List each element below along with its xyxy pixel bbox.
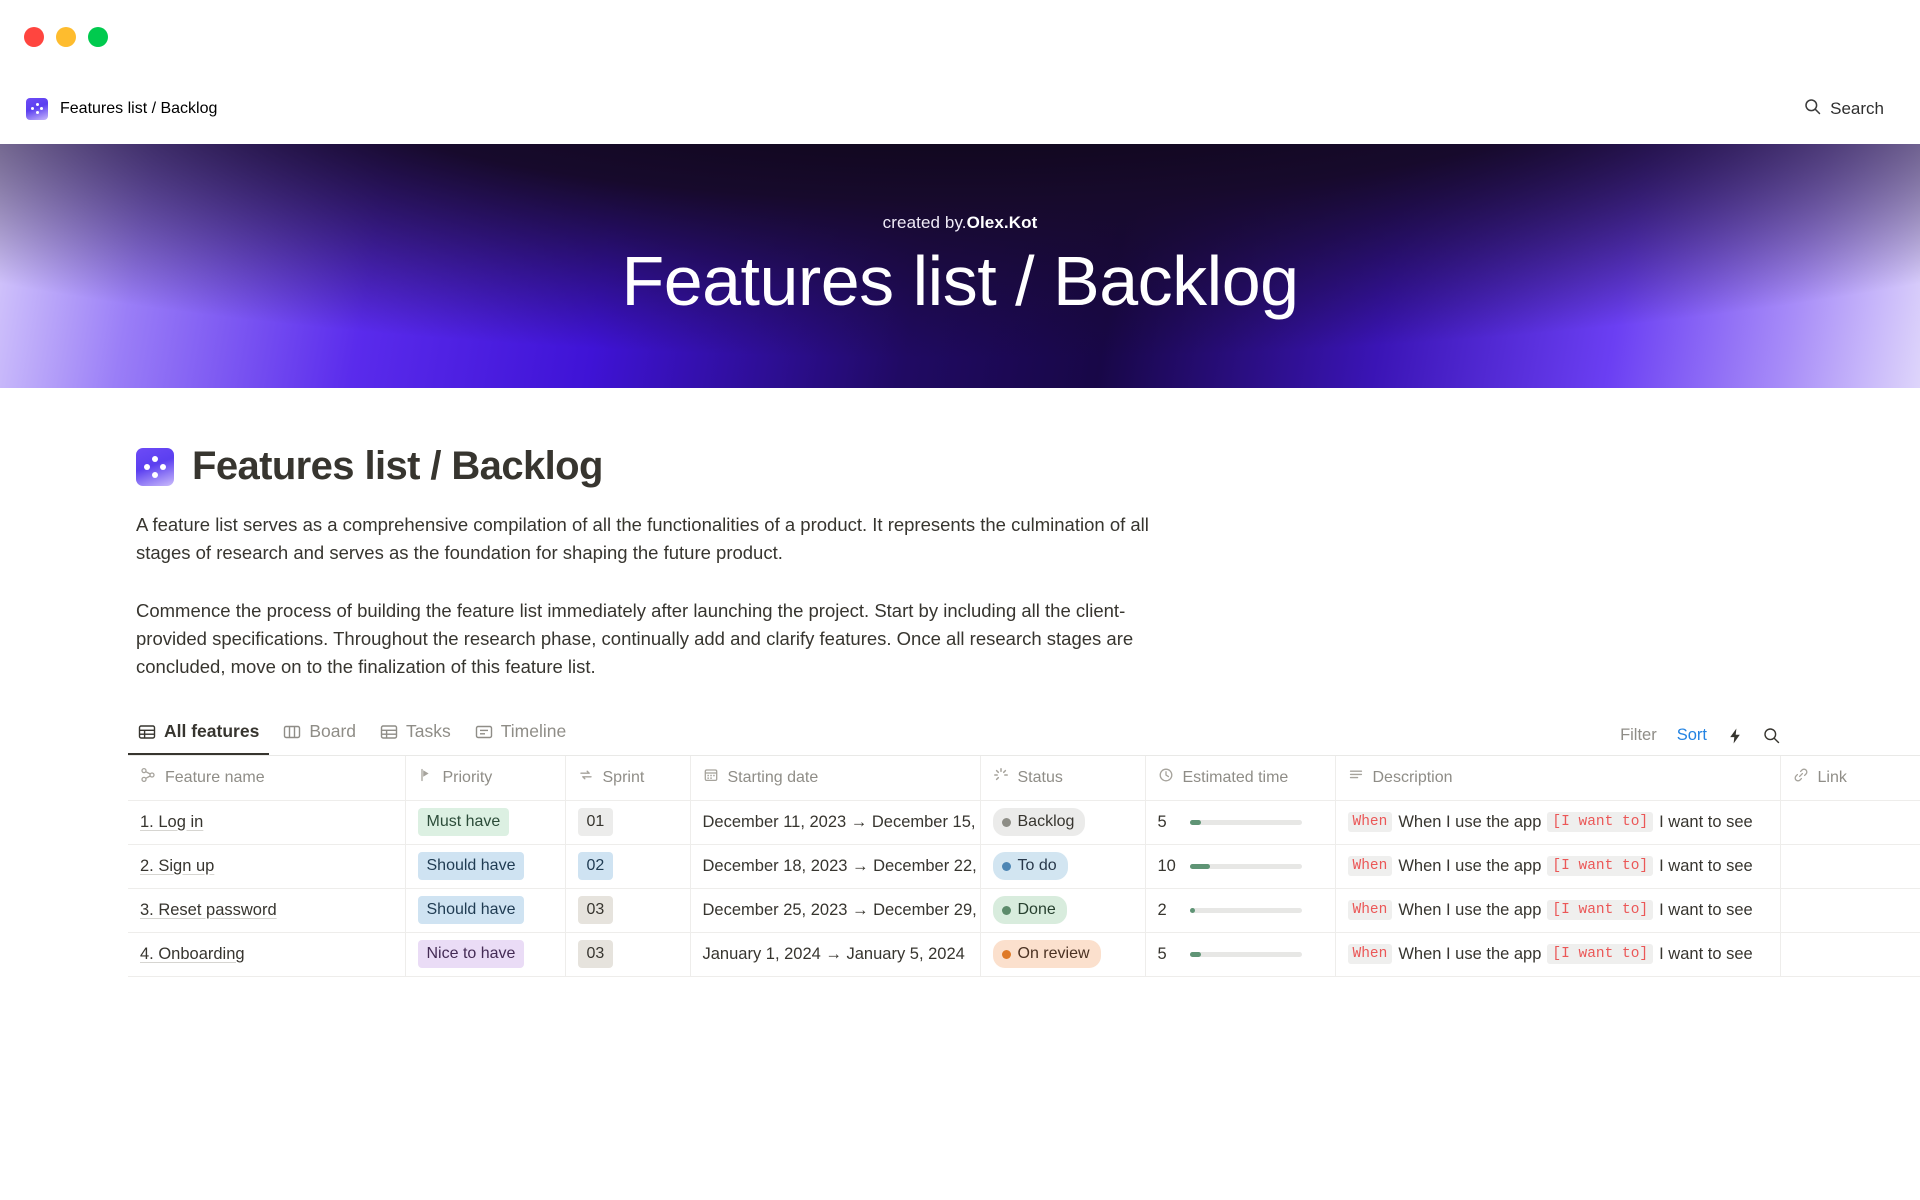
column-header-description[interactable]: Description	[1335, 756, 1780, 800]
loading-icon	[993, 767, 1009, 788]
tab-label: Tasks	[406, 721, 451, 742]
tab-label: Board	[309, 721, 356, 742]
estimated-time: 5	[1158, 813, 1323, 832]
view-actions: Filter Sort	[1620, 726, 1780, 755]
column-header-estimated-time[interactable]: Estimated time	[1145, 756, 1335, 800]
status-label: Done	[1018, 899, 1056, 921]
cell-sprint[interactable]: 03	[565, 932, 690, 976]
date-range: December 25, 2023 → December 29, 2023	[703, 901, 981, 919]
estimated-progress-fill	[1190, 908, 1195, 913]
window-chrome	[0, 0, 1920, 74]
status-label: On review	[1018, 943, 1090, 965]
view-tabs: All features Board	[128, 715, 576, 755]
hero-credit: created by.Olex.Kot	[883, 213, 1038, 233]
cell-priority[interactable]: Must have	[405, 800, 565, 844]
status-dot-icon	[1002, 818, 1011, 827]
description-chip-when: When	[1348, 944, 1393, 964]
description-chip-when: When	[1348, 900, 1393, 920]
repeat-icon	[578, 767, 594, 788]
cell-estimated-time[interactable]: 5	[1145, 932, 1335, 976]
column-label: Link	[1818, 769, 1847, 787]
sprint-tag: 03	[578, 940, 614, 968]
status-label: Backlog	[1018, 811, 1075, 833]
tab-board[interactable]: Board	[273, 715, 366, 755]
description-chip-i-want-to: [I want to]	[1547, 944, 1653, 964]
column-label: Priority	[443, 769, 493, 787]
description: When When I use the app [I want to] I wa…	[1348, 944, 1768, 964]
calendar-icon	[703, 767, 719, 788]
clock-icon	[1158, 767, 1174, 788]
maximize-window-button[interactable]	[88, 27, 108, 47]
tab-label: All features	[164, 721, 259, 742]
column-label: Status	[1018, 769, 1063, 787]
search-icon	[1804, 98, 1821, 120]
link-icon	[1793, 767, 1809, 788]
estimated-progress-bar	[1190, 952, 1302, 957]
estimated-time: 5	[1158, 945, 1323, 964]
column-label: Feature name	[165, 769, 265, 787]
status-label: To do	[1018, 855, 1057, 877]
estimated-progress-fill	[1190, 952, 1201, 957]
status-dot-icon	[1002, 906, 1011, 915]
estimated-time: 10	[1158, 857, 1323, 876]
intro-paragraph-1: A feature list serves as a comprehensive…	[136, 511, 1166, 567]
description-text-2: I want to see	[1659, 857, 1753, 876]
tab-label: Timeline	[501, 721, 566, 742]
breadcrumb-title: Features list / Backlog	[60, 100, 217, 118]
status-dot-icon	[1002, 862, 1011, 871]
traffic-lights	[24, 27, 108, 47]
estimated-value: 5	[1158, 945, 1180, 964]
page-title-row: Features list / Backlog	[0, 388, 1920, 489]
estimated-progress-bar	[1190, 820, 1302, 825]
minimize-window-button[interactable]	[56, 27, 76, 47]
column-header-feature-name[interactable]: Feature name	[128, 756, 405, 800]
estimated-value: 5	[1158, 813, 1180, 832]
tab-tasks[interactable]: Tasks	[370, 715, 461, 755]
hero-title: Features list / Backlog	[621, 245, 1298, 319]
cell-feature-name[interactable]: 4. Onboarding	[128, 932, 405, 976]
hero-credit-prefix: created by.	[883, 213, 967, 232]
page-body: Features list / Backlog A feature list s…	[0, 388, 1920, 977]
date-range: December 11, 2023 → December 15, 2023	[703, 813, 981, 831]
cell-link[interactable]	[1780, 932, 1920, 976]
cell-feature-name[interactable]: 2. Sign up	[128, 844, 405, 888]
description-text-1: When I use the app	[1398, 813, 1541, 832]
relation-icon	[140, 767, 156, 788]
column-header-link[interactable]: Link	[1780, 756, 1920, 800]
estimated-progress-bar	[1190, 864, 1302, 869]
description-chip-when: When	[1348, 812, 1393, 832]
feature-name-link[interactable]: 3. Reset password	[140, 901, 277, 919]
cell-description[interactable]: When When I use the app [I want to] I wa…	[1335, 844, 1780, 888]
cell-description[interactable]: When When I use the app [I want to] I wa…	[1335, 888, 1780, 932]
puzzle-dots-icon	[136, 448, 174, 486]
cell-priority[interactable]: Should have	[405, 888, 565, 932]
cell-description[interactable]: When When I use the app [I want to] I wa…	[1335, 800, 1780, 844]
priority-tag: Should have	[418, 896, 525, 924]
cell-sprint[interactable]: 02	[565, 844, 690, 888]
cell-description[interactable]: When When I use the app [I want to] I wa…	[1335, 932, 1780, 976]
description-chip-when: When	[1348, 856, 1393, 876]
topbar-search-button[interactable]: Search	[1804, 98, 1884, 120]
priority-tag: Nice to have	[418, 940, 525, 968]
table-icon	[380, 723, 398, 741]
description-text-1: When I use the app	[1398, 901, 1541, 920]
hero-credit-author: Olex.Kot	[967, 213, 1038, 232]
description-chip-i-want-to: [I want to]	[1547, 900, 1653, 920]
date-range: January 1, 2024 → January 5, 2024	[703, 945, 965, 963]
description-text-2: I want to see	[1659, 813, 1753, 832]
filter-button[interactable]: Filter	[1620, 726, 1657, 745]
view-switcher: All features Board	[128, 715, 1920, 756]
estimated-progress-fill	[1190, 864, 1210, 869]
priority-tag: Must have	[418, 808, 510, 836]
table-row[interactable]: 4. Onboarding Nice to have 03 January 1,…	[128, 932, 1920, 976]
column-header-starting-date[interactable]: Starting date	[690, 756, 980, 800]
date-range: December 18, 2023 → December 22, 2023	[703, 857, 981, 875]
priority-tag: Should have	[418, 852, 525, 880]
tab-timeline[interactable]: Timeline	[465, 715, 576, 755]
estimated-value: 2	[1158, 901, 1180, 920]
estimated-value: 10	[1158, 857, 1180, 876]
cell-status[interactable]: To do	[980, 844, 1145, 888]
table-row[interactable]: 3. Reset password Should have 03 Decembe…	[128, 888, 1920, 932]
estimated-progress-fill	[1190, 820, 1201, 825]
cell-link[interactable]	[1780, 844, 1920, 888]
app-topbar: Features list / Backlog Search	[0, 74, 1920, 144]
hero-banner: created by.Olex.Kot Features list / Back…	[0, 144, 1920, 388]
search-icon[interactable]	[1763, 727, 1780, 744]
cell-starting-date[interactable]: December 11, 2023 → December 15, 2023	[690, 800, 980, 844]
sprint-tag: 01	[578, 808, 614, 836]
puzzle-dots-icon	[26, 98, 48, 120]
description: When When I use the app [I want to] I wa…	[1348, 856, 1768, 876]
topbar-search-label: Search	[1830, 99, 1884, 119]
cell-link[interactable]	[1780, 800, 1920, 844]
timeline-icon	[475, 723, 493, 741]
feature-name-link[interactable]: 2. Sign up	[140, 857, 214, 875]
description: When When I use the app [I want to] I wa…	[1348, 812, 1768, 832]
table-header-row: Feature name Priority	[128, 756, 1920, 800]
cell-priority[interactable]: Nice to have	[405, 932, 565, 976]
text-lines-icon	[1348, 767, 1364, 788]
column-header-sprint[interactable]: Sprint	[565, 756, 690, 800]
description-text-2: I want to see	[1659, 945, 1753, 964]
intro-paragraph-2: Commence the process of building the fea…	[136, 597, 1166, 681]
column-header-status[interactable]: Status	[980, 756, 1145, 800]
description-text-1: When I use the app	[1398, 857, 1541, 876]
column-label: Estimated time	[1183, 769, 1289, 787]
table-row[interactable]: 2. Sign up Should have 02 December 18, 2…	[128, 844, 1920, 888]
status-badge: Backlog	[993, 808, 1086, 836]
description-text-2: I want to see	[1659, 901, 1753, 920]
cell-starting-date[interactable]: December 25, 2023 → December 29, 2023	[690, 888, 980, 932]
cell-estimated-time[interactable]: 2	[1145, 888, 1335, 932]
cell-feature-name[interactable]: 1. Log in	[128, 800, 405, 844]
sprint-tag: 03	[578, 896, 614, 924]
table-icon	[138, 723, 156, 741]
description-text-1: When I use the app	[1398, 945, 1541, 964]
cell-feature-name[interactable]: 3. Reset password	[128, 888, 405, 932]
status-dot-icon	[1002, 950, 1011, 959]
cell-starting-date[interactable]: December 18, 2023 → December 22, 2023	[690, 844, 980, 888]
features-table: Feature name Priority	[128, 756, 1920, 977]
estimated-time: 2	[1158, 901, 1323, 920]
cell-status[interactable]: Backlog	[980, 800, 1145, 844]
cell-estimated-time[interactable]: 10	[1145, 844, 1335, 888]
description-chip-i-want-to: [I want to]	[1547, 812, 1653, 832]
board-icon	[283, 723, 301, 741]
page-title: Features list / Backlog	[192, 444, 603, 489]
column-label: Starting date	[728, 769, 819, 787]
cell-link[interactable]	[1780, 888, 1920, 932]
flag-icon	[418, 767, 434, 788]
sprint-tag: 02	[578, 852, 614, 880]
tab-all-features[interactable]: All features	[128, 715, 269, 755]
cell-status[interactable]: On review	[980, 932, 1145, 976]
cell-sprint[interactable]: 01	[565, 800, 690, 844]
table-row[interactable]: 1. Log in Must have 01 December 11, 2023…	[128, 800, 1920, 844]
feature-name-link[interactable]: 4. Onboarding	[140, 945, 245, 963]
column-header-priority[interactable]: Priority	[405, 756, 565, 800]
cell-sprint[interactable]: 03	[565, 888, 690, 932]
sort-button[interactable]: Sort	[1677, 726, 1707, 745]
status-badge: Done	[993, 896, 1067, 924]
column-label: Sprint	[603, 769, 645, 787]
status-badge: On review	[993, 940, 1101, 968]
estimated-progress-bar	[1190, 908, 1302, 913]
feature-name-link[interactable]: 1. Log in	[140, 813, 203, 831]
cell-estimated-time[interactable]: 5	[1145, 800, 1335, 844]
description: When When I use the app [I want to] I wa…	[1348, 900, 1768, 920]
status-badge: To do	[993, 852, 1068, 880]
close-window-button[interactable]	[24, 27, 44, 47]
cell-priority[interactable]: Should have	[405, 844, 565, 888]
lightning-bolt-icon[interactable]	[1727, 727, 1743, 745]
breadcrumb[interactable]: Features list / Backlog	[26, 98, 217, 120]
cell-starting-date[interactable]: January 1, 2024 → January 5, 2024	[690, 932, 980, 976]
cell-status[interactable]: Done	[980, 888, 1145, 932]
column-label: Description	[1373, 769, 1453, 787]
description-chip-i-want-to: [I want to]	[1547, 856, 1653, 876]
